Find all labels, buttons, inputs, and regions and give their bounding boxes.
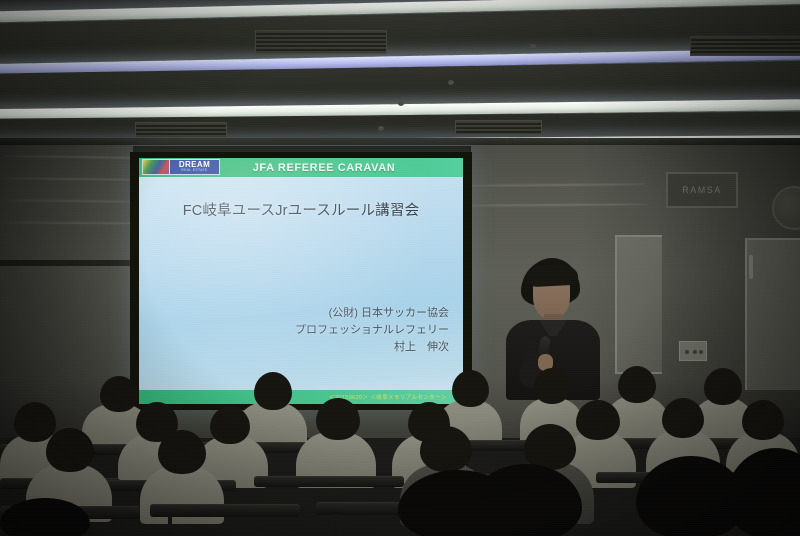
ceiling-sensor xyxy=(530,44,536,49)
ramsa-speaker-sign: RAMSA xyxy=(666,172,738,208)
lecture-hall-photo: RAMSA DREAM REAL ESTATE JFA REFEREE CARA… xyxy=(0,0,800,536)
ceiling-sensor xyxy=(398,101,404,106)
audience-head xyxy=(618,366,656,403)
audience-head xyxy=(158,430,206,474)
ceiling-sensor xyxy=(448,80,454,85)
air-vent xyxy=(135,122,227,138)
air-vent xyxy=(690,36,800,56)
slide-header-bar: DREAM REAL ESTATE JFA REFEREE CARAVAN xyxy=(139,158,463,177)
ceiling-sensor xyxy=(378,126,384,131)
audience-head xyxy=(576,400,620,440)
dream-logo: DREAM REAL ESTATE xyxy=(142,159,220,175)
audience-head xyxy=(210,406,250,444)
ramsa-sign-label: RAMSA xyxy=(682,185,722,195)
door-handle[interactable] xyxy=(749,255,753,279)
audience xyxy=(0,352,800,536)
audience-head xyxy=(316,398,360,440)
chair-back xyxy=(254,476,404,487)
audience-head xyxy=(14,402,56,442)
dream-logo-wordmark: DREAM REAL ESTATE xyxy=(170,159,220,175)
audience-head xyxy=(534,368,570,404)
audience-head xyxy=(524,424,576,470)
chair-leg xyxy=(168,516,172,536)
ceiling xyxy=(0,0,800,150)
audience-head xyxy=(662,398,704,438)
air-vent xyxy=(455,120,542,135)
audience-head xyxy=(742,400,784,440)
audience-head xyxy=(254,372,292,410)
audience-head xyxy=(704,368,742,405)
audience-head xyxy=(100,376,138,412)
audience-head xyxy=(452,370,489,407)
chair-leg xyxy=(334,514,338,536)
dream-logo-tagline: REAL ESTATE xyxy=(181,169,207,173)
slide-title: FC岐阜ユースJrユースルール講習会 xyxy=(139,199,463,220)
air-vent xyxy=(255,30,387,54)
audience-head xyxy=(420,426,472,472)
audience-head xyxy=(46,428,94,472)
chair-back xyxy=(150,504,300,517)
slide-credit-line: プロフェッショナルレフェリー xyxy=(295,322,449,339)
slide-credit-line: (公財) 日本サッカー協会 xyxy=(295,305,449,322)
slide-credits: (公財) 日本サッカー協会 プロフェッショナルレフェリー 村上 伸次 xyxy=(295,305,449,356)
dream-logo-mark-icon xyxy=(142,159,170,175)
